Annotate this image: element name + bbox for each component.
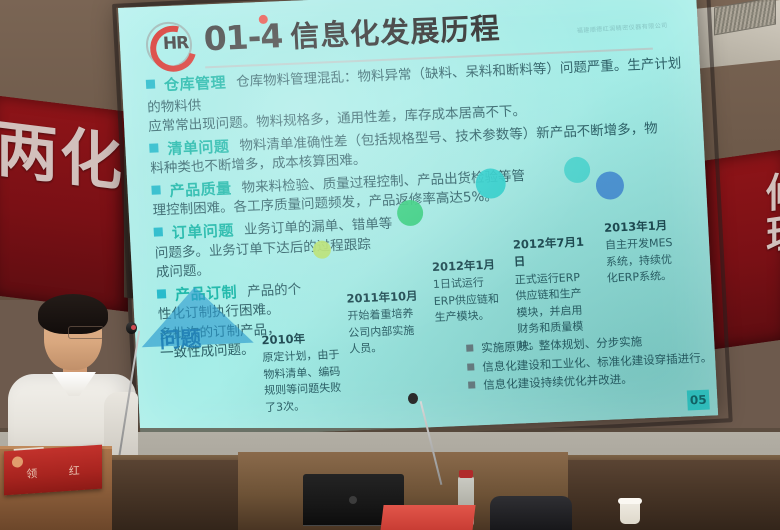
water-bottle-cap	[459, 470, 473, 478]
timeline-entry-2011: 2011年10月 开始着重培养公司内部实施人员。	[346, 288, 423, 359]
problem-badge-label: 问题	[159, 323, 203, 355]
bullet-heading: 订单问题	[171, 219, 234, 243]
bullet-lead: 业务订单的漏单、错单等	[243, 216, 392, 238]
conclusion-square-icon	[467, 363, 474, 370]
bullet-square-icon	[146, 80, 155, 89]
right-banner-text: 修理	[766, 168, 780, 258]
chair-back	[490, 496, 572, 530]
conclusion-square-icon	[468, 382, 475, 389]
paper-cup-rim	[618, 498, 642, 504]
left-red-banner: 两化融	[0, 96, 128, 312]
conclusion-list: 实施原则：整体规划、分步实施 信息化建设和工业化、标准化建设穿插进行。 信息化建…	[466, 329, 718, 395]
bullet-heading: 仓库管理	[164, 72, 227, 96]
timeline-text: 开始着重培养公司内部实施人员。	[347, 307, 414, 356]
slide-page-number: 05	[687, 390, 710, 411]
slide-number: 01-4	[203, 19, 283, 55]
timeline-text: 1日试运行ERP供应链和生产模块。	[433, 276, 500, 324]
timeline-entry-2010: 2010年 原定计划，由于物料清单、编码规则等问题失败了3次。	[261, 329, 345, 416]
timeline-date: 2010年	[261, 329, 342, 350]
timeline-entry-2013: 2013年1月 自主开发MES系统，持续优化ERP系统。	[604, 217, 679, 288]
podium-nameplate: 领 红	[4, 445, 102, 496]
second-microphone-head	[408, 393, 418, 404]
presentation-slide: HR 01-4 信息化发展历程 福建顺德红润精密仪器有限公司 仓库管理 仓库物料…	[118, 0, 718, 439]
photo-scene: 两化融 修理 HR 01-4 信息化发展历程 福建顺德红润精密仪器有限公司	[0, 0, 780, 530]
bullet-heading: 产品质量	[169, 177, 232, 201]
laptop-logo-icon	[349, 496, 357, 504]
timeline-text: 原定计划，由于物料清单、编码规则等问题失败了3次。	[262, 348, 341, 414]
timeline-text: 自主开发MES系统，持续优化ERP系统。	[605, 236, 673, 285]
conclusion-text: 信息化建设持续优化并改进。	[483, 372, 633, 392]
bullet-square-icon	[154, 227, 163, 236]
bullet-lead: 产品的个	[247, 281, 302, 299]
timeline-date: 2012年7月1日	[513, 233, 591, 271]
slide-watermark: 福建顺德红润精密仪器有限公司	[576, 20, 667, 34]
bullet-square-icon	[151, 185, 160, 194]
timeline-date: 2012年1月	[432, 256, 503, 276]
company-logo-icon: HR	[145, 21, 193, 69]
title-dot-icon	[258, 15, 267, 24]
bullet-heading: 清单问题	[167, 135, 230, 159]
red-folder	[380, 505, 475, 530]
timeline-entry-2012-01: 2012年1月 1日试运行ERP供应链和生产模块。	[432, 256, 505, 327]
slide-number-text: 01-4	[203, 16, 284, 58]
presenter-glasses	[68, 326, 104, 339]
timeline-date: 2013年1月	[604, 217, 677, 237]
timeline-date: 2011年10月	[346, 288, 421, 308]
projection-screen: HR 01-4 信息化发展历程 福建顺德红润精密仪器有限公司 仓库管理 仓库物料…	[118, 0, 718, 439]
conclusion-square-icon	[466, 344, 473, 351]
bullet-square-icon	[149, 143, 158, 152]
logo-text: HR	[162, 33, 188, 54]
microphone-indicator	[131, 325, 136, 330]
slide-title: 01-4 信息化发展历程	[203, 10, 501, 55]
slide-title-text: 信息化发展历程	[290, 14, 501, 52]
